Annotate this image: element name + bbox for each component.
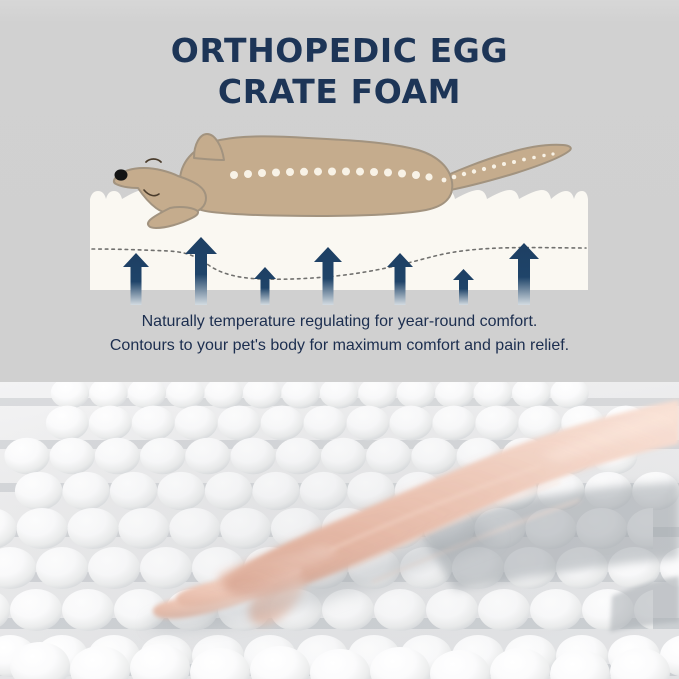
pressure-arrow-1 (123, 253, 149, 305)
pressure-arrow-5 (387, 253, 413, 305)
title-line-1: ORTHOPEDIC EGG (0, 30, 679, 71)
page-title: ORTHOPEDIC EGG CRATE FOAM (0, 30, 679, 112)
dog-nose (115, 169, 128, 180)
caption-line-1: Naturally temperature regulating for yea… (0, 310, 679, 334)
dog-on-foam-illustration (0, 120, 679, 305)
top-diagram-panel: ORTHOPEDIC EGG CRATE FOAM (0, 0, 679, 382)
sleeping-dog-illustration (108, 120, 578, 240)
title-line-2: CRATE FOAM (0, 71, 679, 112)
pressure-arrow-3 (254, 267, 276, 305)
product-infographic: ORTHOPEDIC EGG CRATE FOAM (0, 0, 679, 679)
foam-texture-photo (0, 382, 679, 679)
pressure-arrow-7 (509, 243, 539, 305)
caption-line-2: Contours to your pet's body for maximum … (0, 334, 679, 358)
pressure-arrow-2 (185, 237, 217, 305)
pressure-arrow-4 (314, 247, 342, 305)
pressure-arrow-6 (453, 269, 474, 305)
feature-captions: Naturally temperature regulating for yea… (0, 310, 679, 358)
hand-pressing-foam-image (0, 382, 679, 679)
